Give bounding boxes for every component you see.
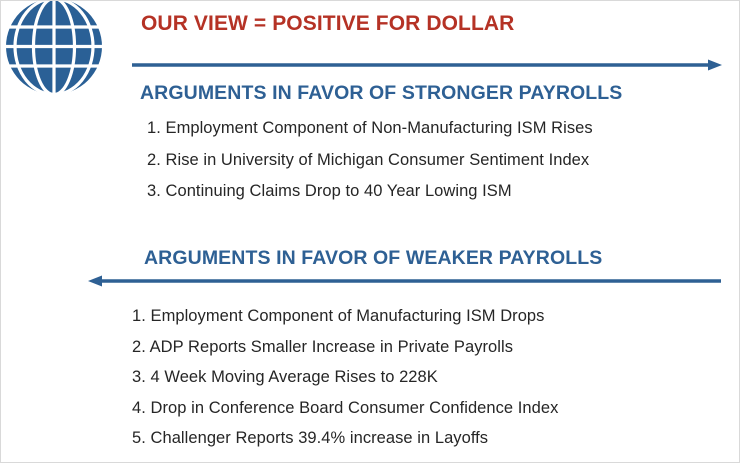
- page-title: OUR VIEW = POSITIVE FOR DOLLAR: [141, 12, 514, 36]
- list-item-number: 1.: [147, 120, 161, 137]
- list-item-label: Rise in University of Michigan Consumer …: [166, 151, 590, 169]
- list-item-label: 4 Week Moving Average Rises to 228K: [151, 368, 438, 386]
- list-item-number: 5.: [132, 430, 146, 447]
- list-item-label: ADP Reports Smaller Increase in Private …: [150, 338, 513, 356]
- list-item-number: 3.: [147, 183, 161, 200]
- list-item-number: 3.: [132, 369, 146, 386]
- arguments-list-stronger: 1. Employment Component of Non-Manufactu…: [147, 120, 593, 215]
- list-item-number: 1.: [132, 308, 146, 325]
- list-item-label: Challenger Reports 39.4% increase in Lay…: [151, 429, 489, 447]
- section-heading-stronger-payrolls: ARGUMENTS IN FAVOR OF STRONGER PAYROLLS: [140, 82, 622, 105]
- section-heading-weaker-payrolls: ARGUMENTS IN FAVOR OF WEAKER PAYROLLS: [144, 247, 602, 270]
- list-item: 2. ADP Reports Smaller Increase in Priva…: [132, 339, 558, 356]
- arguments-list-weaker: 1. Employment Component of Manufacturing…: [132, 308, 558, 461]
- list-item-number: 2.: [147, 152, 161, 169]
- list-item-label: Employment Component of Manufacturing IS…: [151, 307, 545, 325]
- list-item: 1. Employment Component of Manufacturing…: [132, 308, 558, 325]
- arrow-right-icon: [132, 58, 722, 72]
- list-item: 3. Continuing Claims Drop to 40 Year Low…: [147, 183, 593, 200]
- list-item-label: Continuing Claims Drop to 40 Year Lowing…: [166, 182, 512, 200]
- list-item: 4. Drop in Conference Board Consumer Con…: [132, 400, 558, 417]
- list-item-number: 4.: [132, 400, 146, 417]
- list-item: 5. Challenger Reports 39.4% increase in …: [132, 430, 558, 447]
- list-item: 1. Employment Component of Non-Manufactu…: [147, 120, 593, 137]
- list-item-label: Employment Component of Non-Manufacturin…: [166, 119, 593, 137]
- list-item: 2. Rise in University of Michigan Consum…: [147, 152, 593, 169]
- list-item-label: Drop in Conference Board Consumer Confid…: [151, 399, 559, 417]
- arrow-left-icon: [88, 274, 721, 288]
- slide-canvas: OUR VIEW = POSITIVE FOR DOLLAR ARGUMENTS…: [0, 0, 740, 463]
- list-item: 3. 4 Week Moving Average Rises to 228K: [132, 369, 558, 386]
- list-item-number: 2.: [132, 339, 146, 356]
- globe-icon: [5, 0, 103, 98]
